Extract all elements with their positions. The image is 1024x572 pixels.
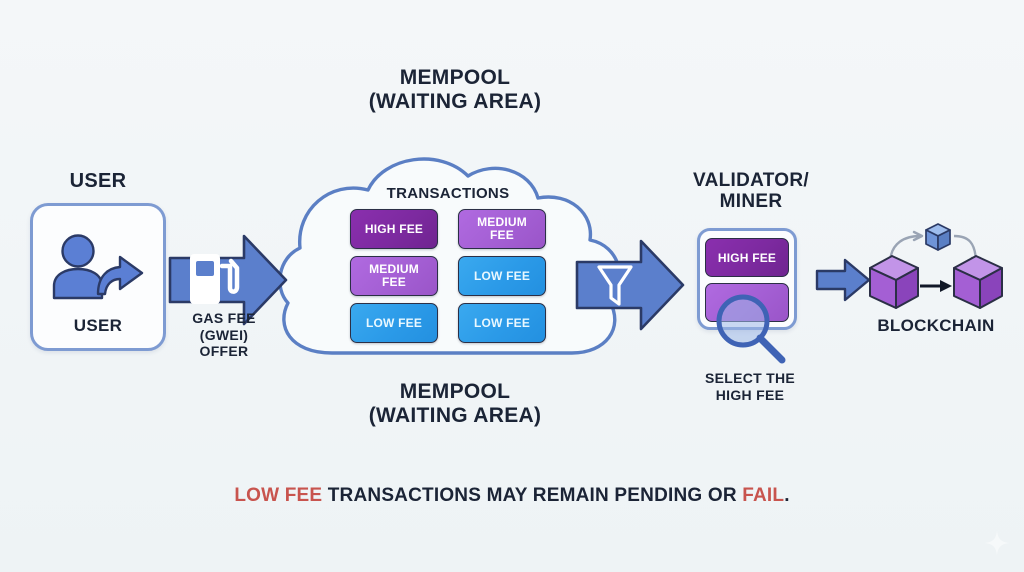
mempool-title-bottom: MEMPOOL (WAITING AREA)	[320, 380, 590, 427]
user-caption: USER	[30, 316, 166, 335]
validator-selected-chip[interactable]: HIGH FEE	[705, 238, 789, 277]
transaction-chip[interactable]: LOW FEE	[350, 303, 438, 343]
validator-title: VALIDATOR/ MINER	[668, 170, 834, 213]
footer-period: .	[784, 485, 789, 506]
transaction-chip[interactable]: LOW FEE	[458, 256, 546, 296]
footer-fail: FAIL	[742, 485, 784, 506]
transaction-chip[interactable]: MEDIUM FEE	[458, 209, 546, 249]
user-title: USER	[28, 170, 168, 192]
blockchain-cubes-icon	[862, 216, 1012, 316]
transactions-title: TRANSACTIONS	[338, 186, 558, 203]
footer-low-fee: LOW FEE	[234, 485, 322, 506]
filter-arrow	[575, 238, 685, 332]
select-high-fee-caption: SELECT THE HIGH FEE	[688, 370, 812, 404]
transaction-chip[interactable]: MEDIUM FEE	[350, 256, 438, 296]
transactions-grid: HIGH FEE MEDIUM FEE MEDIUM FEE LOW FEE L…	[350, 209, 546, 351]
transaction-chip[interactable]: LOW FEE	[458, 303, 546, 343]
pending-cube	[926, 224, 950, 250]
blockchain-label: BLOCKCHAIN	[860, 316, 1012, 335]
transaction-chip[interactable]: HIGH FEE	[350, 209, 438, 249]
user-with-arrow-icon	[46, 232, 150, 302]
diagram-canvas: MEMPOOL (WAITING AREA) MEMPOOL (WAITING …	[0, 0, 1024, 572]
sparkle-diamond-icon	[984, 530, 1010, 556]
magnifying-glass-icon	[708, 288, 794, 368]
footer-mid-text: TRANSACTIONS MAY REMAIN PENDING OR	[322, 485, 742, 506]
gas-fee-label: GAS FEE (GWEI) OFFER	[160, 310, 288, 360]
footer-note: LOW FEE TRANSACTIONS MAY REMAIN PENDING …	[0, 485, 1024, 507]
block-cube	[870, 256, 918, 308]
block-cube	[954, 256, 1002, 308]
mempool-title-top: MEMPOOL (WAITING AREA)	[320, 66, 590, 113]
